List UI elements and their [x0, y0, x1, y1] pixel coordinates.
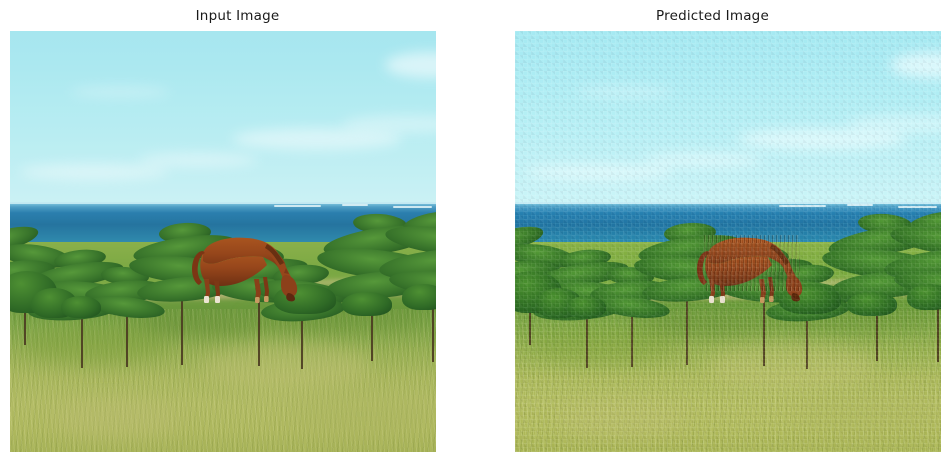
cloud	[19, 164, 169, 180]
bush	[566, 296, 606, 318]
cloud	[643, 153, 763, 167]
horse	[189, 227, 309, 307]
grass-patch	[291, 393, 436, 435]
panel-predicted-image: Predicted Image	[475, 0, 950, 465]
cloud	[575, 86, 675, 98]
horizon-line	[515, 202, 941, 204]
surf-line	[898, 206, 936, 208]
grass-patch	[796, 393, 941, 435]
bush	[402, 284, 436, 310]
predicted-image-axes	[515, 31, 941, 452]
comparison-figure: Input Image	[0, 0, 950, 465]
surf-line	[393, 206, 431, 208]
surf-line	[274, 205, 321, 207]
panel-title-predicted: Predicted Image	[475, 8, 950, 24]
bush	[847, 292, 897, 316]
bush	[61, 296, 101, 318]
panel-input-image: Input Image	[0, 0, 475, 465]
cloud	[70, 86, 170, 98]
predicted-scene	[515, 31, 941, 452]
cloud	[138, 153, 258, 167]
horse	[694, 227, 814, 307]
surf-line	[779, 205, 826, 207]
panel-title-input: Input Image	[0, 8, 475, 24]
input-image-axes	[10, 31, 436, 452]
horizon-line	[10, 202, 436, 204]
bush	[907, 284, 941, 310]
bush	[342, 292, 392, 316]
surf-line	[847, 204, 873, 206]
input-scene	[10, 31, 436, 452]
cloud	[524, 164, 674, 180]
surf-line	[342, 204, 368, 206]
